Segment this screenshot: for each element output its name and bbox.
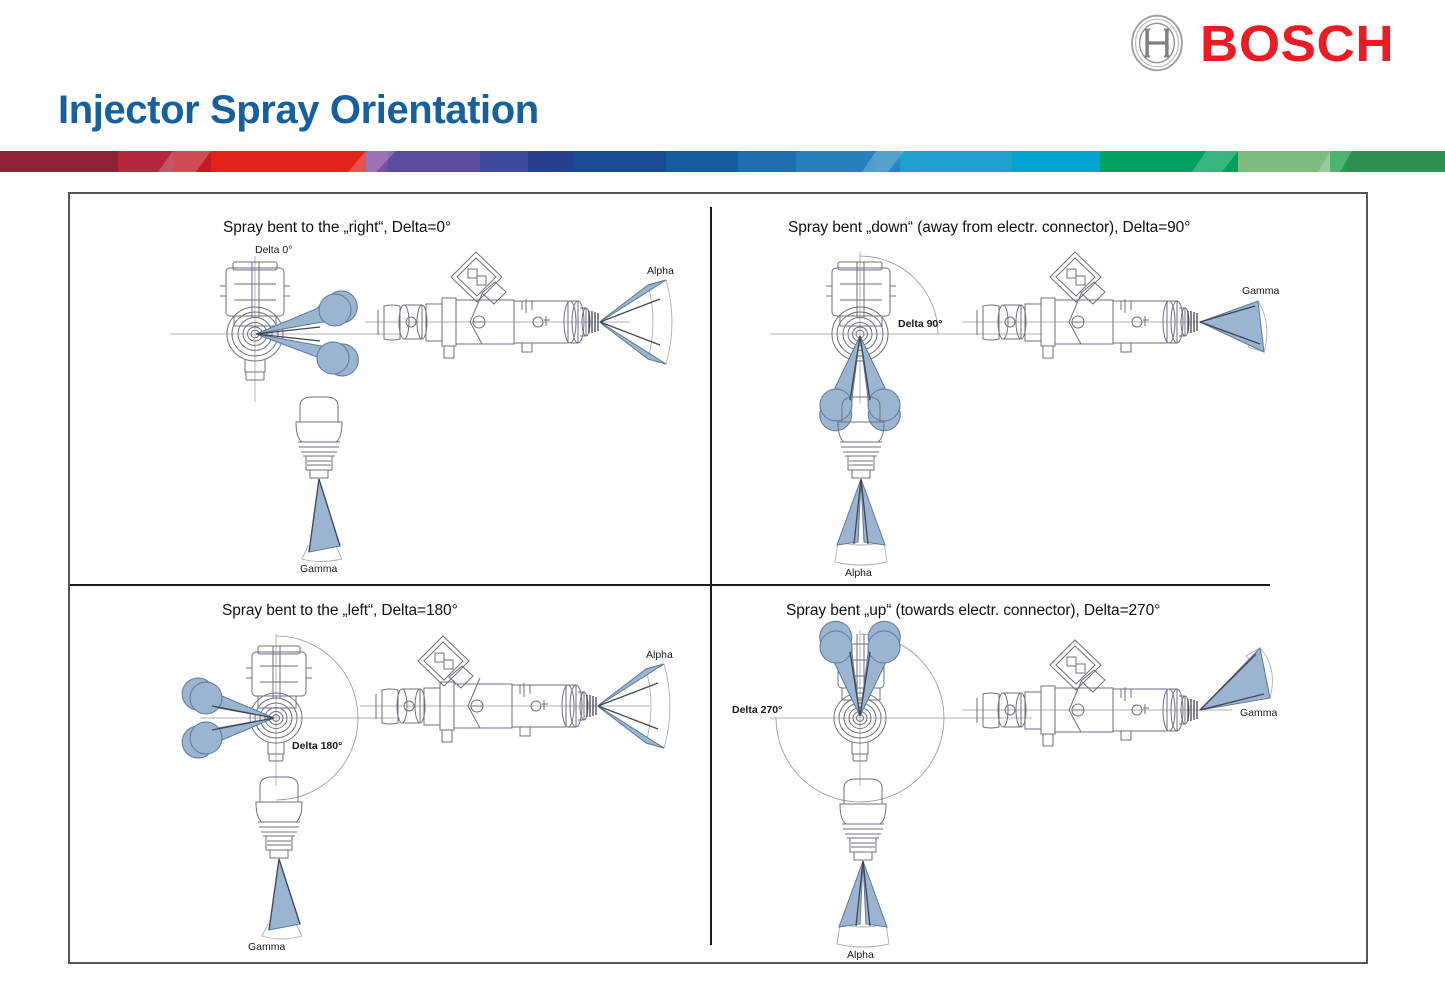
spray-cone-pair-down [820,336,901,431]
label-delta-90: Delta 90° [898,318,942,330]
spray-cone-pair-right [256,291,358,376]
color-band-segment-9 [666,151,738,172]
axial-view-delta-90: Delta 90° [770,252,1042,431]
color-band-segment-3 [211,151,366,172]
label-alpha-delta-0: Alpha [647,265,674,277]
label-alpha-delta-90: Alpha [845,567,872,579]
axial-view-delta-180: Delta 180° [182,634,400,800]
spray-cone-gamma-side [1200,301,1267,352]
quadrant-delta-90: Spray bent „down“ (away from electr. con… [712,194,1370,584]
color-band-segment-19 [1348,151,1445,172]
color-band-segment-15 [1100,151,1206,172]
side-view-delta-90: Gamma [962,252,1280,358]
nozzle-view-delta-90: Alpha [835,397,887,579]
quadrant-delta-270: Spray bent „up“ (towards electr. connect… [712,586,1370,966]
spray-cone-alpha-side [600,280,672,364]
side-view-delta-270: Gamma [962,640,1278,746]
bosch-logo: BOSCH [1128,14,1387,72]
color-band-segment-6 [480,151,528,172]
side-view-delta-0: Alpha [365,252,674,364]
quadrant-caption-delta-270: Spray bent „up“ (towards electr. connect… [786,602,1160,620]
label-gamma-delta-0: Gamma [300,563,338,575]
brand-color-band [0,151,1445,172]
bosch-wordmark: BOSCH [1200,18,1394,69]
diagram-delta-0: Delta 0° [70,194,710,584]
label-delta-180: Delta 180° [292,740,342,752]
color-band-segment-8 [574,151,666,172]
color-band-segment-0 [0,151,118,172]
label-delta-270: Delta 270° [732,704,782,716]
axial-view-delta-270: Delta 270° [732,621,1032,802]
quadrant-delta-180: Spray bent to the „left“, Delta=180° [70,586,710,966]
diagram-delta-270: Delta 270° [712,586,1370,966]
label-alpha-delta-270: Alpha [847,949,874,961]
page-header: BOSCH Injector Spray Orientation [0,0,1445,155]
diagram-frame: Spray bent to the „right“, Delta=0° [68,192,1368,964]
diagram-delta-90: Delta 90° [712,194,1370,584]
quadrant-caption-delta-90: Spray bent „down“ (away from electr. con… [788,219,1190,237]
nozzle-view-delta-180: Gamma [248,777,302,953]
color-band-segment-14 [1012,151,1100,172]
spray-cone-alpha-side-180 [598,664,670,748]
color-band-segment-11 [796,151,876,172]
color-band-segment-17 [1238,151,1330,172]
color-band-segment-10 [738,151,796,172]
label-gamma-delta-180: Gamma [248,941,286,953]
label-gamma-delta-270: Gamma [1240,707,1278,719]
diagram-delta-180: Delta 180° [70,586,710,966]
spray-cone-pair-left [182,678,274,758]
color-band-segment-5 [388,151,480,172]
nozzle-view-delta-0: Gamma [296,397,342,575]
quadrant-caption-delta-0: Spray bent to the „right“, Delta=0° [223,219,451,237]
label-alpha-delta-180: Alpha [646,649,673,661]
label-gamma-delta-90: Gamma [1242,285,1280,297]
axial-view-delta-0: Delta 0° [170,244,400,402]
page-title: Injector Spray Orientation [58,88,539,133]
nozzle-view-delta-270: Alpha [837,779,889,961]
label-delta-0: Delta 0° [255,244,292,256]
quadrant-caption-delta-180: Spray bent to the „left“, Delta=180° [222,602,458,620]
spray-cone-pair-up [820,621,901,716]
side-view-delta-180: Alpha [360,636,673,748]
color-band-segment-13 [900,151,1012,172]
quadrant-delta-0: Spray bent to the „right“, Delta=0° [70,194,710,584]
spray-cone-gamma-side-270 [1200,648,1272,710]
bosch-armature-icon [1128,14,1186,72]
color-band-segment-7 [528,151,574,172]
